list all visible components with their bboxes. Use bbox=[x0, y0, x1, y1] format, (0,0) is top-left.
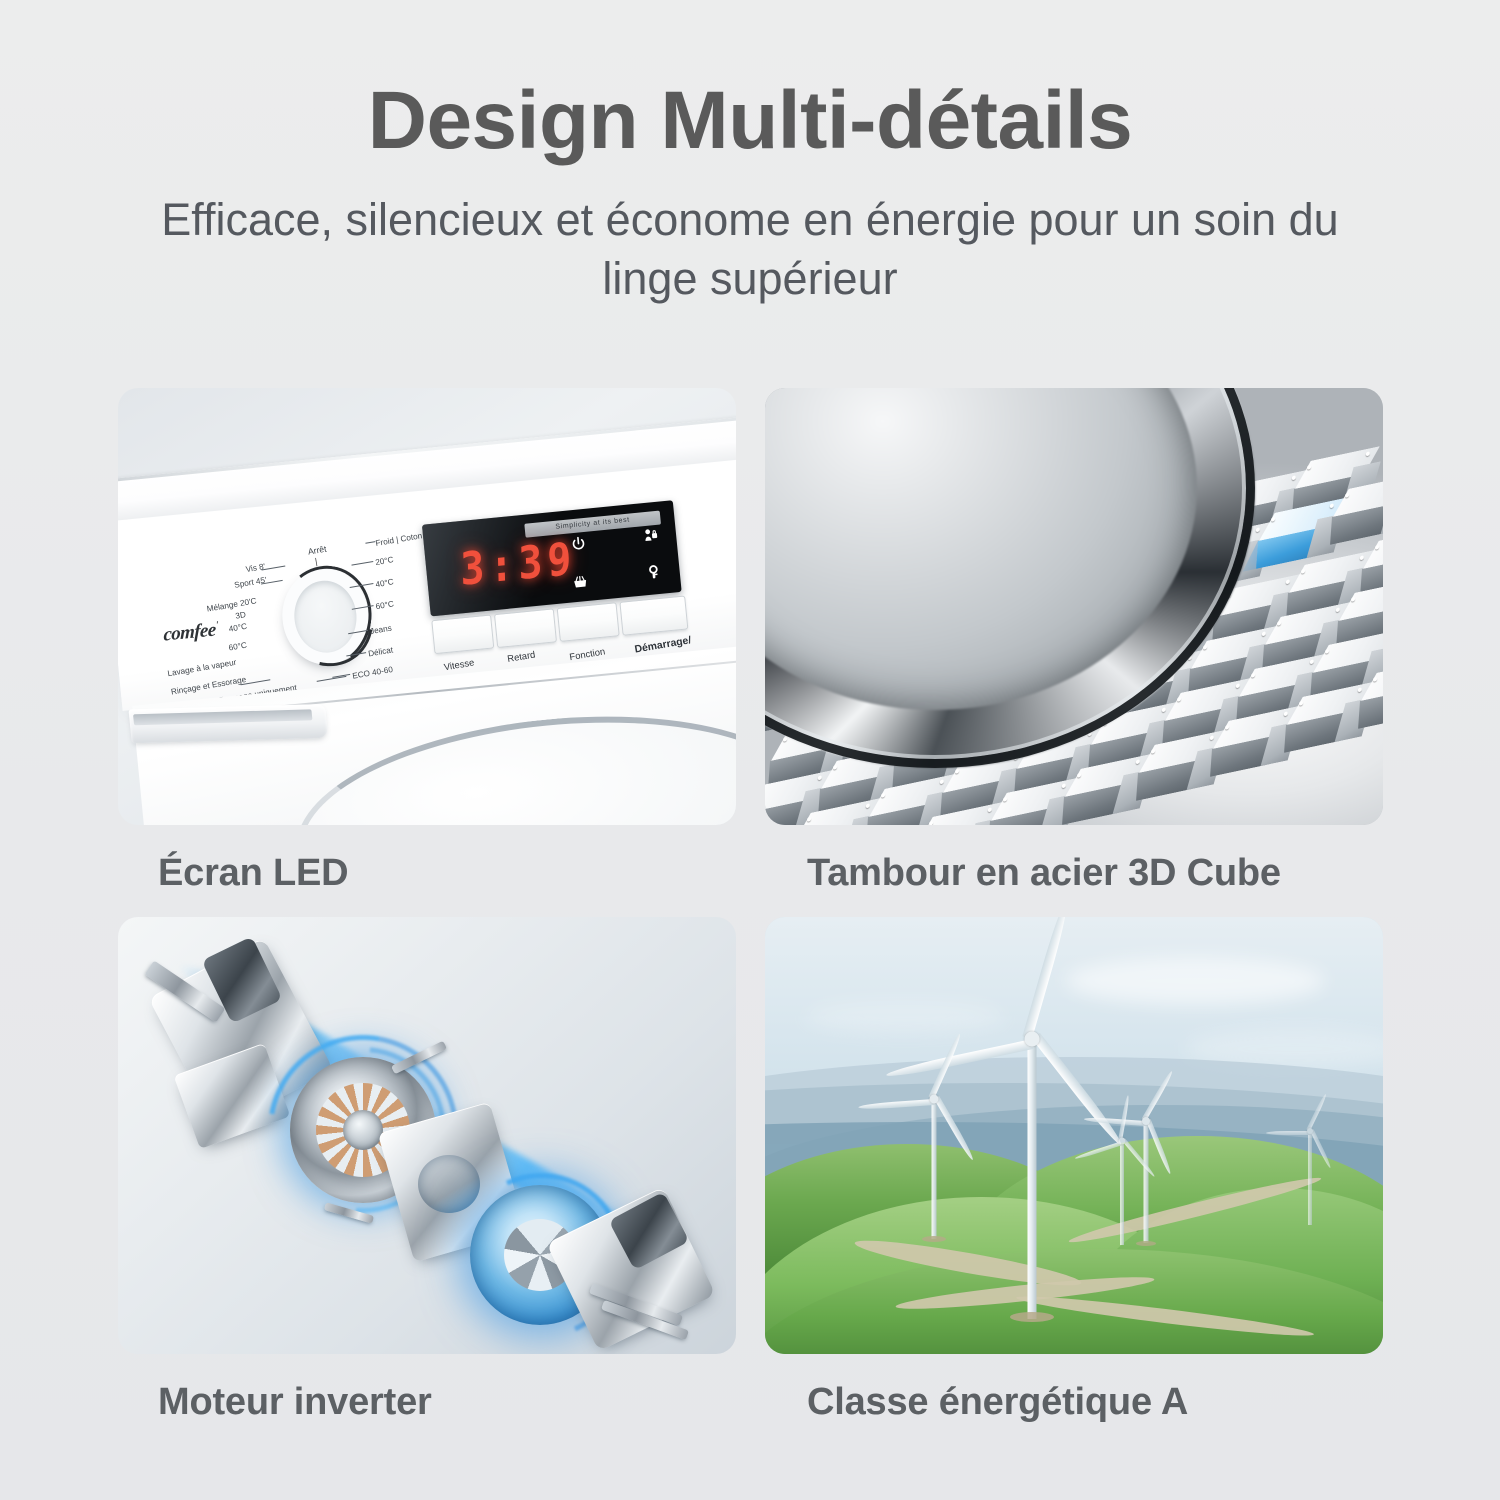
turbine-mast bbox=[932, 1099, 937, 1239]
wind-turbine bbox=[1307, 1131, 1312, 1225]
dial-label-right-2: 40°C bbox=[375, 577, 395, 589]
turbine-base bbox=[1010, 1312, 1054, 1322]
turbine-hub bbox=[1307, 1128, 1313, 1134]
feature-grid: comfee' Arrêt | Vis 8' Sport 45 bbox=[118, 388, 1383, 1424]
dial-pointer-mark: | bbox=[314, 556, 318, 566]
turbine-mast bbox=[1144, 1121, 1149, 1243]
wind-turbine bbox=[931, 1099, 937, 1239]
status-icon-group bbox=[546, 527, 671, 596]
washing-machine: comfee' Arrêt | Vis 8' Sport 45 bbox=[118, 412, 736, 825]
energy-image bbox=[765, 917, 1383, 1354]
delay-button[interactable] bbox=[494, 608, 557, 648]
caption-led: Écran LED bbox=[118, 852, 736, 895]
start-pause-button[interactable] bbox=[619, 595, 688, 635]
dial-label-right-0: Froid | Coton bbox=[375, 531, 423, 548]
dial-label-left-5: 60°C bbox=[191, 641, 248, 659]
feature-cell-drum: Tambour en acier 3D Cube bbox=[765, 388, 1383, 895]
power-icon bbox=[570, 535, 589, 554]
dial-tick-right-2 bbox=[350, 583, 374, 588]
wind-turbine-main bbox=[1027, 1039, 1037, 1319]
motor-mid-aperture bbox=[418, 1155, 480, 1213]
turbine-base bbox=[922, 1236, 946, 1242]
machine-door bbox=[287, 694, 736, 825]
wind-turbine bbox=[1119, 1141, 1124, 1245]
dial-label-off: Arrêt bbox=[307, 544, 327, 557]
caption-drum: Tambour en acier 3D Cube bbox=[765, 852, 1383, 895]
dial-label-right-5: Délicat bbox=[368, 645, 394, 658]
caption-energy: Classe énergétique A bbox=[765, 1381, 1383, 1424]
feature-cell-motor: Moteur inverter bbox=[118, 917, 736, 1424]
drum-image bbox=[765, 388, 1383, 825]
feature-cell-led: comfee' Arrêt | Vis 8' Sport 45 bbox=[118, 388, 736, 895]
dial-label-right-4: Jeans bbox=[369, 624, 392, 637]
turbine-mast bbox=[1120, 1141, 1124, 1245]
turbine-hub bbox=[1142, 1117, 1150, 1125]
turbine-mast bbox=[1028, 1039, 1037, 1319]
feature-cell-energy: Classe énergétique A bbox=[765, 917, 1383, 1424]
child-lock-icon bbox=[641, 526, 660, 545]
dial-tick-right-1 bbox=[351, 561, 373, 566]
cloud bbox=[1065, 957, 1325, 1005]
dial-tick-right-4 bbox=[348, 630, 368, 634]
dial-label-right-1: 20°C bbox=[375, 555, 395, 567]
dial-tick-right-0 bbox=[365, 541, 375, 544]
page-subtitle: Efficace, silencieux et économe en énerg… bbox=[145, 190, 1355, 309]
speed-button[interactable] bbox=[431, 614, 494, 654]
wash-basket-icon bbox=[571, 573, 590, 592]
dial-label-right-3: 60°C bbox=[375, 599, 395, 611]
turbine-mast bbox=[1308, 1131, 1312, 1225]
turbine-blade bbox=[1266, 1131, 1310, 1135]
led-display-image: comfee' Arrêt | Vis 8' Sport 45 bbox=[118, 388, 736, 825]
drum-photo bbox=[765, 388, 1383, 825]
turbine-base bbox=[1136, 1241, 1156, 1246]
function-button[interactable] bbox=[557, 602, 620, 642]
page-header: Design Multi-détails Efficace, silencieu… bbox=[0, 0, 1500, 309]
product-feature-page: Design Multi-détails Efficace, silencieu… bbox=[0, 0, 1500, 1500]
dial-tick-right-3 bbox=[352, 605, 374, 610]
detergent-drawer[interactable] bbox=[129, 704, 329, 743]
turbine-hub bbox=[1025, 1032, 1040, 1047]
turbine-hub bbox=[1118, 1138, 1125, 1145]
dial-tick-right-5 bbox=[346, 652, 366, 656]
page-title: Design Multi-détails bbox=[0, 78, 1500, 164]
motor-image bbox=[118, 917, 736, 1354]
cloud bbox=[805, 999, 1005, 1033]
dial-label-right-6: ECO 40-60 bbox=[352, 665, 394, 681]
turbine-hub bbox=[930, 1095, 939, 1104]
door-lock-icon bbox=[645, 564, 664, 583]
wind-turbine bbox=[1143, 1121, 1149, 1243]
motor-exploded-view bbox=[118, 917, 736, 1354]
caption-motor: Moteur inverter bbox=[118, 1381, 736, 1424]
